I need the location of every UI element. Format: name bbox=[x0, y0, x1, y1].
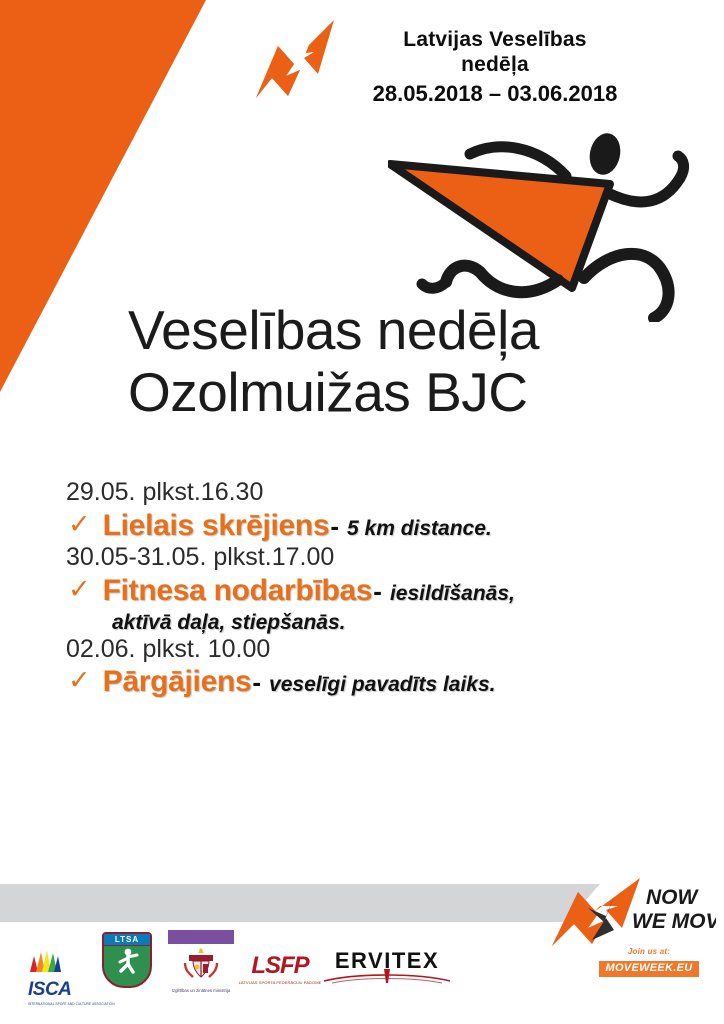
header-line2: nedēļa bbox=[330, 53, 660, 78]
event-date: 30.05-31.05. plkst.17.00 bbox=[0, 543, 724, 572]
lsfp-subtitle: LATVIJAS SPORTA FEDERĀCIJU PADOME bbox=[228, 980, 332, 985]
nowwemove-arrow-logo-icon bbox=[248, 18, 338, 98]
check-icon: ✓ bbox=[68, 576, 91, 603]
header-line1: Latvijas Veselības bbox=[330, 28, 660, 53]
event-date: 02.06. plkst. 10.00 bbox=[0, 635, 724, 664]
ministry-purple-bar bbox=[168, 930, 234, 944]
latvia-coat-of-arms-icon bbox=[181, 947, 221, 981]
running-figure-icon bbox=[388, 132, 706, 322]
ltsa-wordmark: LTSA bbox=[104, 934, 150, 946]
nowwemove-footer-logo: NOW WE MOVE bbox=[548, 878, 716, 950]
svg-text:WE MOVE: WE MOVE bbox=[632, 910, 716, 933]
header-dates: 28.05.2018 – 03.06.2018 bbox=[330, 81, 660, 107]
sponsor-logo-row: ISCA INTERNATIONAL SPORT AND CULTURE ASS… bbox=[0, 930, 560, 1010]
poster-canvas: Latvijas Veselības nedēļa 28.05.2018 – 0… bbox=[0, 0, 724, 1024]
event-dash: - bbox=[330, 511, 339, 542]
moveweek-url[interactable]: MOVEWEEK.EU bbox=[599, 961, 698, 977]
lsfp-logo: LSFP LATVIJAS SPORTA FEDERĀCIJU PADOME bbox=[228, 954, 332, 985]
check-icon: ✓ bbox=[68, 511, 91, 538]
event-name: Fitnesa nodarbības bbox=[103, 574, 373, 608]
event-item: 02.06. plkst. 10.00 ✓ Pārgājiens - vesel… bbox=[0, 635, 724, 700]
event-item: 30.05-31.05. plkst.17.00 ✓ Fitnesa nodar… bbox=[0, 543, 724, 635]
event-description: 5 km distance. bbox=[347, 517, 492, 541]
ervitex-wordmark: ERVITEX bbox=[322, 950, 452, 972]
event-dash: - bbox=[252, 667, 261, 698]
isca-logo: ISCA INTERNATIONAL SPORT AND CULTURE ASS… bbox=[28, 948, 110, 1006]
event-list: 29.05. plkst.16.30 ✓ Lielais skrējiens -… bbox=[0, 478, 724, 699]
isca-subtitle: INTERNATIONAL SPORT AND CULTURE ASSOCIAT… bbox=[28, 1002, 110, 1006]
event-description-line2: aktīvā daļa, stiepšanās. bbox=[0, 610, 724, 635]
ervitex-logo: ERVITEX bbox=[322, 950, 452, 990]
page-title: Veselības nedēļa Ozolmuižas BJC bbox=[128, 300, 708, 423]
ltsa-figure-icon bbox=[104, 946, 150, 976]
moveweek-join-label: Join us at: bbox=[594, 948, 704, 956]
check-icon: ✓ bbox=[68, 667, 91, 694]
page-title-line2: Ozolmuižas BJC bbox=[128, 362, 708, 424]
event-headline: ✓ Fitnesa nodarbības - iesildīšanās, bbox=[0, 574, 724, 608]
event-description: iesildīšanās, bbox=[390, 582, 515, 606]
ltsa-shield: LTSA bbox=[102, 932, 152, 988]
isca-mark-icon bbox=[28, 948, 110, 974]
event-description: veselīgi pavadīts laiks. bbox=[269, 673, 495, 697]
event-item: 29.05. plkst.16.30 ✓ Lielais skrējiens -… bbox=[0, 478, 724, 543]
moveweek-badge[interactable]: Join us at: MOVEWEEK.EU bbox=[594, 948, 704, 977]
event-name: Pārgājiens bbox=[103, 665, 252, 699]
page-title-line1: Veselības nedēļa bbox=[128, 299, 539, 361]
event-dash: - bbox=[373, 576, 382, 607]
event-name: Lielais skrējiens bbox=[103, 509, 330, 543]
header-title-block: Latvijas Veselības nedēļa 28.05.2018 – 0… bbox=[330, 28, 660, 106]
event-headline: ✓ Pārgājiens - veselīgi pavadīts laiks. bbox=[0, 665, 724, 699]
lsfp-wordmark: LSFP bbox=[228, 954, 332, 978]
event-headline: ✓ Lielais skrējiens - 5 km distance. bbox=[0, 509, 724, 543]
event-date: 29.05. plkst.16.30 bbox=[0, 478, 724, 507]
ltsa-logo: LTSA bbox=[100, 932, 154, 988]
isca-wordmark: ISCA bbox=[28, 979, 110, 1001]
svg-text:NOW: NOW bbox=[646, 886, 700, 909]
ministry-subtitle: Izglītības un zinātnes ministrija bbox=[160, 988, 242, 993]
